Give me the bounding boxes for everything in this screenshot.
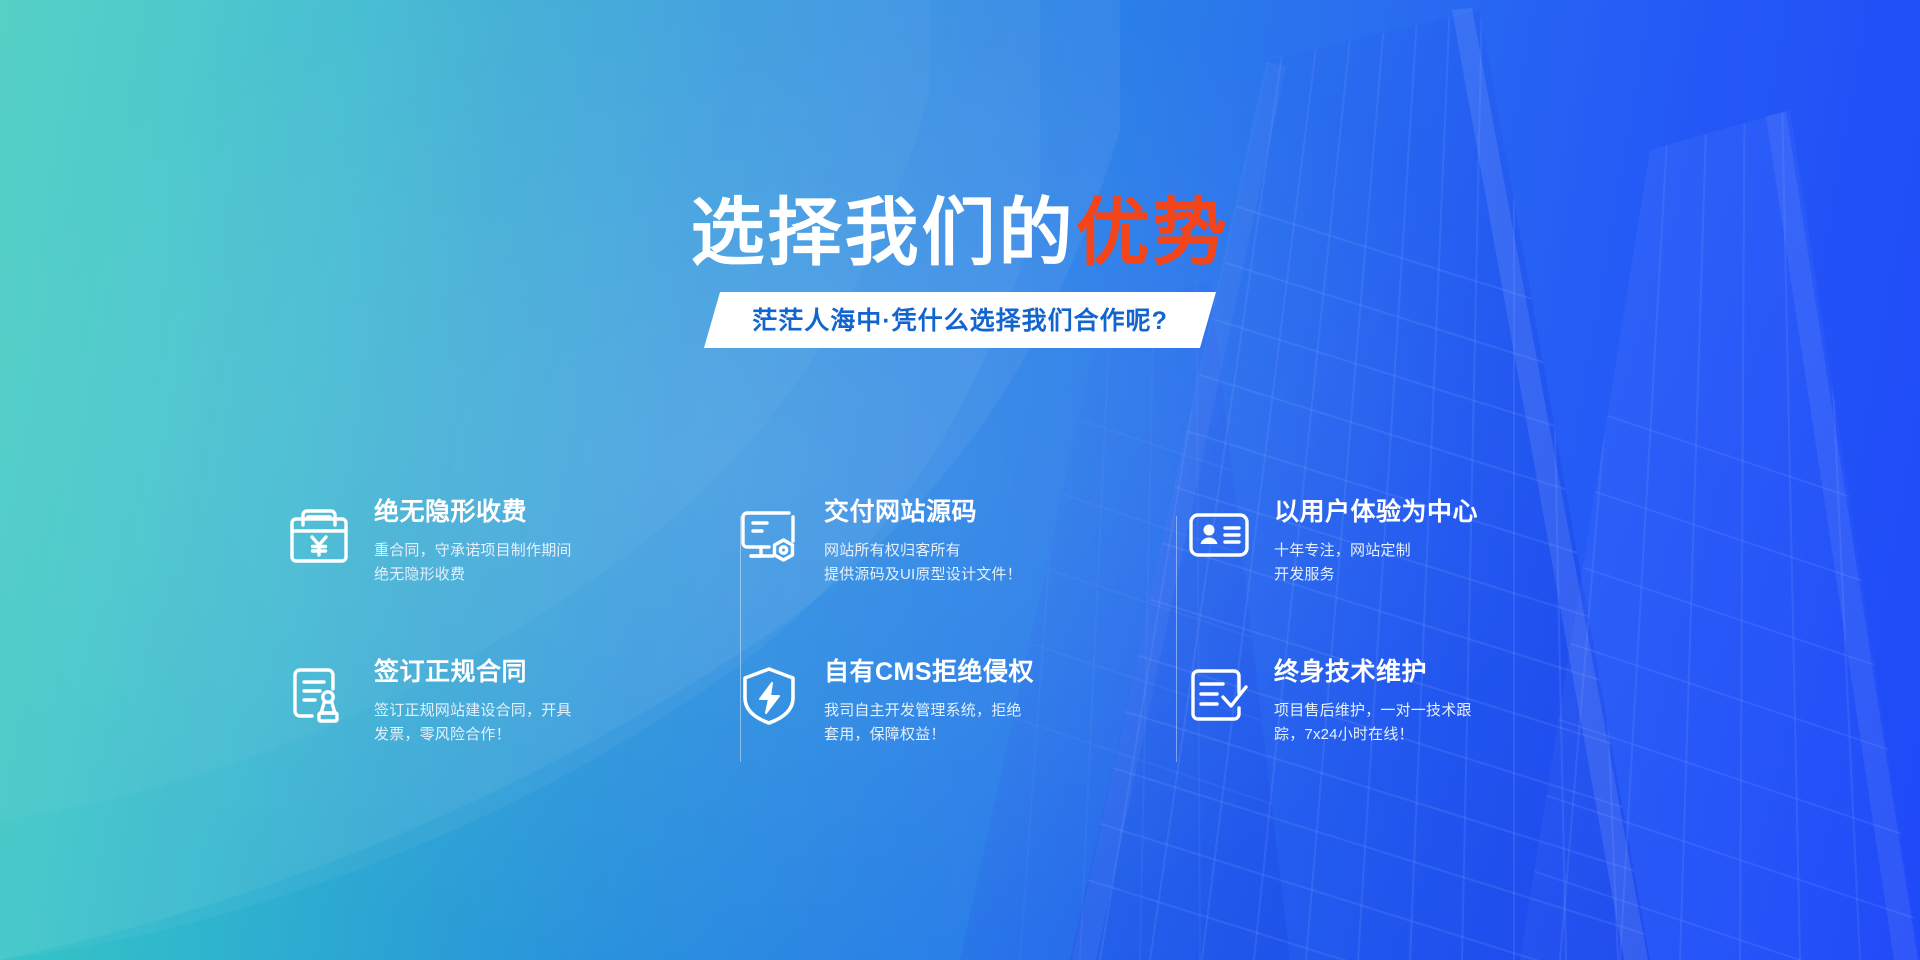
page-title: 选择我们的优势 [0, 196, 1920, 270]
feature-item-formal-contract[interactable]: 签订正规合同 签订正规网站建设合同，开具 发票，零风险合作！ [286, 656, 736, 816]
feature-item-own-cms[interactable]: 自有CMS拒绝侵权 我司自主开发管理系统，拒绝 套用，保障权益！ [736, 656, 1186, 816]
subtitle-ribbon: 茫茫人海中·凭什么选择我们合作呢? [704, 292, 1216, 348]
feature-grid: 绝无隐形收费 重合同，守承诺项目制作期间 绝无隐形收费 [286, 496, 1636, 816]
feature-title: 终身技术维护 [1274, 658, 1472, 687]
feature-text-block: 交付网站源码 网站所有权归客所有 提供源码及UI原型设计文件！ [824, 496, 1022, 587]
feature-description: 网站所有权归客所有 提供源码及UI原型设计文件！ [824, 539, 1022, 588]
subtitle-text: 茫茫人海中·凭什么选择我们合作呢? [752, 301, 1168, 337]
shield-bolt-icon [736, 662, 802, 728]
feature-description-line: 绝无隐形收费 [374, 563, 572, 587]
feature-item-source-code-delivery[interactable]: 交付网站源码 网站所有权归客所有 提供源码及UI原型设计文件！ [736, 496, 1186, 656]
feature-item-user-experience-focus[interactable]: 以用户体验为中心 十年专注，网站定制 开发服务 [1186, 496, 1636, 656]
feature-description-line: 套用，保障权益！ [824, 723, 1034, 747]
headline-accent-text: 优势 [1076, 191, 1230, 274]
feature-description-line: 我司自主开发管理系统，拒绝 [824, 699, 1034, 723]
headline-main-text: 选择我们的 [691, 191, 1076, 274]
feature-title: 以用户体验为中心 [1274, 498, 1478, 527]
feature-description-line: 踪，7x24小时在线！ [1274, 723, 1472, 747]
briefcase-yen-icon [286, 502, 352, 568]
feature-description-line: 十年专注，网站定制 [1274, 539, 1478, 563]
feature-description: 重合同，守承诺项目制作期间 绝无隐形收费 [374, 539, 572, 588]
feature-title: 签订正规合同 [374, 658, 572, 687]
feature-title: 自有CMS拒绝侵权 [824, 658, 1034, 687]
feature-description-line: 网站所有权归客所有 [824, 539, 1022, 563]
feature-description: 十年专注，网站定制 开发服务 [1274, 539, 1478, 588]
contract-stamp-icon [286, 662, 352, 728]
feature-text-block: 终身技术维护 项目售后维护，一对一技术跟 踪，7x24小时在线！ [1274, 656, 1472, 747]
feature-description: 项目售后维护，一对一技术跟 踪，7x24小时在线！ [1274, 699, 1472, 748]
feature-description-line: 签订正规网站建设合同，开具 [374, 699, 572, 723]
banner-stage: 选择我们的优势 茫茫人海中·凭什么选择我们合作呢? [0, 0, 1920, 960]
monitor-gear-icon [736, 502, 802, 568]
feature-text-block: 以用户体验为中心 十年专注，网站定制 开发服务 [1274, 496, 1478, 587]
id-card-icon [1186, 502, 1252, 568]
feature-description-line: 项目售后维护，一对一技术跟 [1274, 699, 1472, 723]
feature-title: 绝无隐形收费 [374, 498, 572, 527]
feature-text-block: 自有CMS拒绝侵权 我司自主开发管理系统，拒绝 套用，保障权益！ [824, 656, 1034, 747]
feature-description-line: 开发服务 [1274, 563, 1478, 587]
checklist-check-icon [1186, 662, 1252, 728]
banner-content: 选择我们的优势 茫茫人海中·凭什么选择我们合作呢? [0, 0, 1920, 960]
subtitle-ribbon-wrap: 茫茫人海中·凭什么选择我们合作呢? [0, 292, 1920, 348]
heading-block: 选择我们的优势 茫茫人海中·凭什么选择我们合作呢? [0, 196, 1920, 348]
feature-item-no-hidden-fees[interactable]: 绝无隐形收费 重合同，守承诺项目制作期间 绝无隐形收费 [286, 496, 736, 656]
feature-description: 我司自主开发管理系统，拒绝 套用，保障权益！ [824, 699, 1034, 748]
feature-item-lifetime-maintenance[interactable]: 终身技术维护 项目售后维护，一对一技术跟 踪，7x24小时在线！ [1186, 656, 1636, 816]
feature-text-block: 签订正规合同 签订正规网站建设合同，开具 发票，零风险合作！ [374, 656, 572, 747]
feature-description: 签订正规网站建设合同，开具 发票，零风险合作！ [374, 699, 572, 748]
feature-title: 交付网站源码 [824, 498, 1022, 527]
feature-description-line: 发票，零风险合作！ [374, 723, 572, 747]
feature-text-block: 绝无隐形收费 重合同，守承诺项目制作期间 绝无隐形收费 [374, 496, 572, 587]
feature-description-line: 重合同，守承诺项目制作期间 [374, 539, 572, 563]
feature-description-line: 提供源码及UI原型设计文件！ [824, 563, 1022, 587]
